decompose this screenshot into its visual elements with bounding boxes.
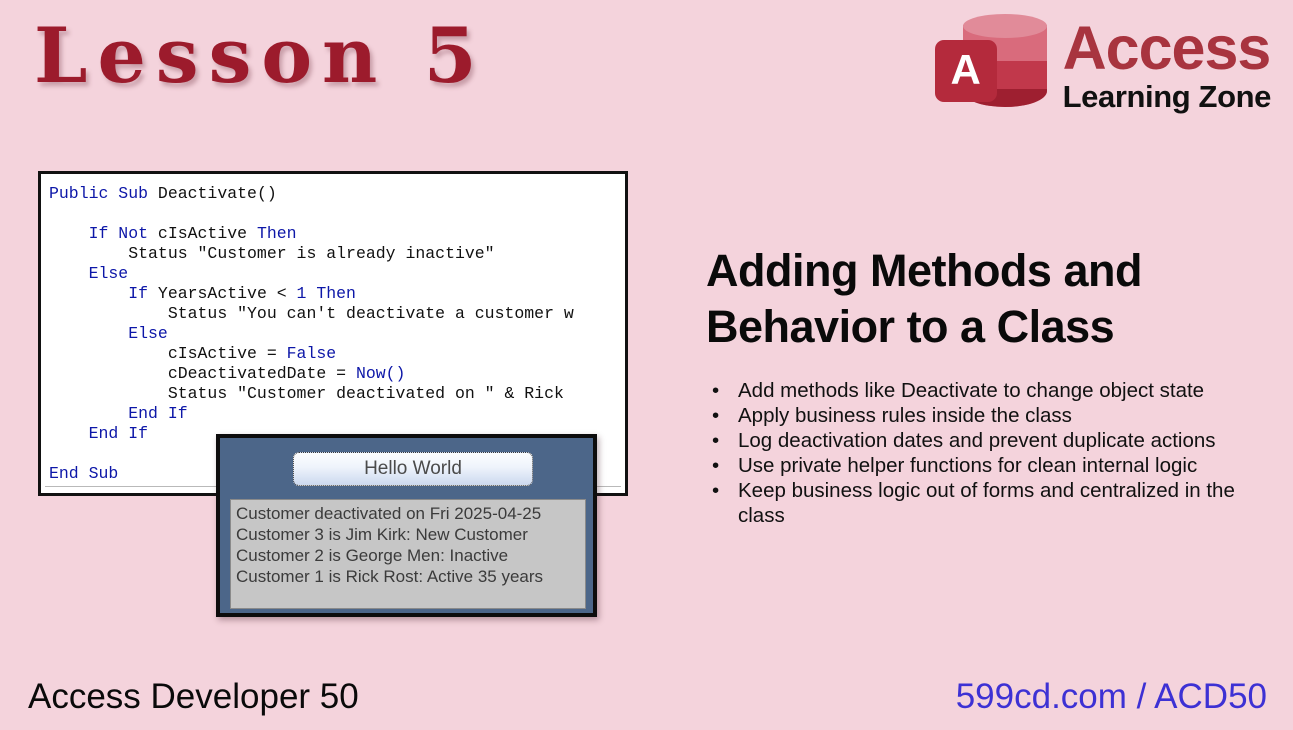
logo-brand-text: Access — [1063, 20, 1271, 78]
page-title: Adding Methods and Behavior to a Class — [706, 243, 1278, 356]
bullet-marker-icon: • — [706, 378, 738, 403]
bullet-marker-icon: • — [706, 453, 738, 478]
code-keyword: Then — [257, 224, 297, 243]
code-keyword: If Not — [49, 224, 158, 243]
bullet-list: •Add methods like Deactivate to change o… — [706, 378, 1278, 528]
list-item[interactable]: Customer deactivated on Fri 2025-04-25 — [236, 503, 580, 524]
status-listbox[interactable]: Customer deactivated on Fri 2025-04-25Cu… — [230, 499, 586, 609]
code-line: cIsActive = False — [49, 344, 628, 364]
code-text: YearsActive < — [158, 284, 297, 303]
code-keyword: If — [49, 284, 158, 303]
code-keyword: 1 Then — [297, 284, 356, 303]
bullet-marker-icon: • — [706, 428, 738, 453]
code-line — [49, 204, 628, 224]
slide-canvas: Lesson 5 A Access Learning Zone Public S… — [0, 0, 1293, 730]
code-line: cDeactivatedDate = Now() — [49, 364, 628, 384]
code-keyword: Else — [49, 264, 128, 283]
website-link-footer[interactable]: 599cd.com / ACD50 — [956, 677, 1267, 717]
code-keyword: End Sub — [49, 464, 118, 483]
code-text: Status "You can't deactivate a customer … — [49, 304, 574, 323]
bullet-text: Add methods like Deactivate to change ob… — [738, 378, 1278, 403]
code-line: Public Sub Deactivate() — [49, 184, 628, 204]
code-text: cDeactivatedDate = — [49, 364, 356, 383]
lesson-title: Lesson 5 — [34, 8, 487, 103]
access-letter-badge: A — [935, 40, 997, 102]
bullet-item: •Apply business rules inside the class — [706, 403, 1278, 428]
bullet-text: Log deactivation dates and prevent dupli… — [738, 428, 1278, 453]
hello-world-button[interactable]: Hello World — [293, 452, 533, 486]
code-keyword: Else — [49, 324, 168, 343]
bullet-item: •Keep business logic out of forms and ce… — [706, 478, 1278, 528]
code-line: If Not cIsActive Then — [49, 224, 628, 244]
bullet-marker-icon: • — [706, 403, 738, 428]
bullet-item: •Add methods like Deactivate to change o… — [706, 378, 1278, 403]
course-name-footer: Access Developer 50 — [28, 677, 359, 717]
logo-tagline-text: Learning Zone — [1063, 81, 1271, 112]
code-keyword: Now() — [356, 364, 406, 383]
code-text: Status "Customer deactivated on " & Rick — [49, 384, 564, 403]
code-line: Else — [49, 324, 628, 344]
bullet-item: •Log deactivation dates and prevent dupl… — [706, 428, 1278, 453]
list-item[interactable]: Customer 2 is George Men: Inactive — [236, 545, 580, 566]
code-text: cIsActive = — [49, 344, 287, 363]
code-keyword: End If — [49, 404, 188, 423]
access-database-icon: A — [935, 10, 1053, 122]
code-keyword: Public Sub — [49, 184, 158, 203]
access-form-window: Hello World Customer deactivated on Fri … — [216, 434, 597, 617]
bullet-text: Keep business logic out of forms and cen… — [738, 478, 1278, 528]
list-item[interactable]: Customer 3 is Jim Kirk: New Customer — [236, 524, 580, 545]
badge-letter: A — [950, 49, 980, 91]
access-learning-zone-logo: A Access Learning Zone — [935, 10, 1271, 122]
bullet-marker-icon: • — [706, 478, 738, 503]
code-text: Status "Customer is already inactive" — [49, 244, 495, 263]
code-text: cIsActive — [158, 224, 257, 243]
bullet-item: •Use private helper functions for clean … — [706, 453, 1278, 478]
code-line: Status "Customer deactivated on " & Rick — [49, 384, 628, 404]
code-text: Deactivate() — [158, 184, 277, 203]
cylinder-top-ellipse — [963, 14, 1047, 38]
bullet-text: Apply business rules inside the class — [738, 403, 1278, 428]
bullet-text: Use private helper functions for clean i… — [738, 453, 1278, 478]
code-keyword: False — [287, 344, 337, 363]
code-line: If YearsActive < 1 Then — [49, 284, 628, 304]
list-item[interactable]: Customer 1 is Rick Rost: Active 35 years — [236, 566, 580, 587]
code-line: Status "You can't deactivate a customer … — [49, 304, 628, 324]
code-keyword: End If — [49, 424, 148, 443]
code-line: Status "Customer is already inactive" — [49, 244, 628, 264]
code-line: End If — [49, 404, 628, 424]
content-column: Adding Methods and Behavior to a Class •… — [706, 243, 1278, 528]
code-line: Else — [49, 264, 628, 284]
logo-wordmark: Access Learning Zone — [1063, 20, 1271, 112]
